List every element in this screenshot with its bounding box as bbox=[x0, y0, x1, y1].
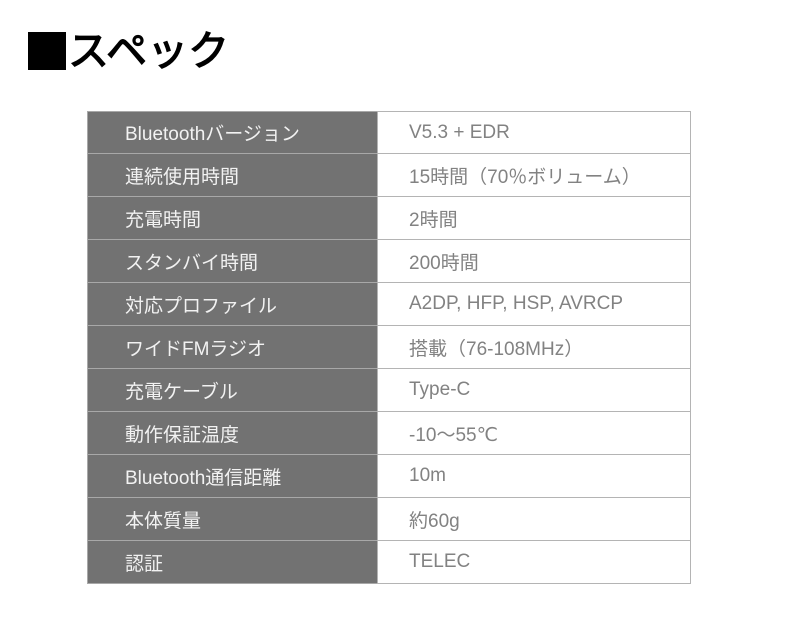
spec-value-cell: 200時間 bbox=[377, 240, 691, 283]
spec-sheet-page: スペック BluetoothバージョンV5.3 + EDR連続使用時間15時間（… bbox=[0, 0, 800, 640]
table-row: 本体質量約60g bbox=[87, 498, 691, 541]
table-row: 認証TELEC bbox=[87, 541, 691, 584]
spec-table-body: BluetoothバージョンV5.3 + EDR連続使用時間15時間（70％ボリ… bbox=[87, 111, 691, 584]
spec-label-cell: 充電時間 bbox=[87, 197, 377, 240]
table-row: ワイドFMラジオ搭載（76-108MHz） bbox=[87, 326, 691, 369]
table-row: 充電時間2時間 bbox=[87, 197, 691, 240]
spec-value-cell: Type-C bbox=[377, 369, 691, 412]
spec-value-cell: A2DP, HFP, HSP, AVRCP bbox=[377, 283, 691, 326]
table-row: BluetoothバージョンV5.3 + EDR bbox=[87, 111, 691, 154]
spec-value-cell: -10〜55℃ bbox=[377, 412, 691, 455]
spec-value-cell: V5.3 + EDR bbox=[377, 111, 691, 154]
table-row: 連続使用時間15時間（70％ボリューム） bbox=[87, 154, 691, 197]
spec-label-cell: 本体質量 bbox=[87, 498, 377, 541]
table-row: Bluetooth通信距離10m bbox=[87, 455, 691, 498]
table-row: 動作保証温度-10〜55℃ bbox=[87, 412, 691, 455]
spec-label-cell: ワイドFMラジオ bbox=[87, 326, 377, 369]
table-row: スタンバイ時間200時間 bbox=[87, 240, 691, 283]
page-title-text: スペック bbox=[68, 31, 229, 72]
spec-value-cell: 搭載（76-108MHz） bbox=[377, 326, 691, 369]
spec-value-cell: 約60g bbox=[377, 498, 691, 541]
spec-table: BluetoothバージョンV5.3 + EDR連続使用時間15時間（70％ボリ… bbox=[87, 111, 691, 584]
spec-value-cell: 2時間 bbox=[377, 197, 691, 240]
spec-label-cell: 認証 bbox=[87, 541, 377, 584]
spec-label-cell: 動作保証温度 bbox=[87, 412, 377, 455]
black-square-icon bbox=[28, 32, 66, 70]
spec-label-cell: 対応プロファイル bbox=[87, 283, 377, 326]
spec-label-cell: スタンバイ時間 bbox=[87, 240, 377, 283]
spec-value-cell: 15時間（70％ボリューム） bbox=[377, 154, 691, 197]
table-row: 対応プロファイルA2DP, HFP, HSP, AVRCP bbox=[87, 283, 691, 326]
spec-label-cell: Bluetooth通信距離 bbox=[87, 455, 377, 498]
table-row: 充電ケーブルType-C bbox=[87, 369, 691, 412]
spec-label-cell: Bluetoothバージョン bbox=[87, 111, 377, 154]
page-title: スペック bbox=[28, 22, 229, 80]
spec-value-cell: 10m bbox=[377, 455, 691, 498]
spec-label-cell: 連続使用時間 bbox=[87, 154, 377, 197]
spec-value-cell: TELEC bbox=[377, 541, 691, 584]
spec-label-cell: 充電ケーブル bbox=[87, 369, 377, 412]
